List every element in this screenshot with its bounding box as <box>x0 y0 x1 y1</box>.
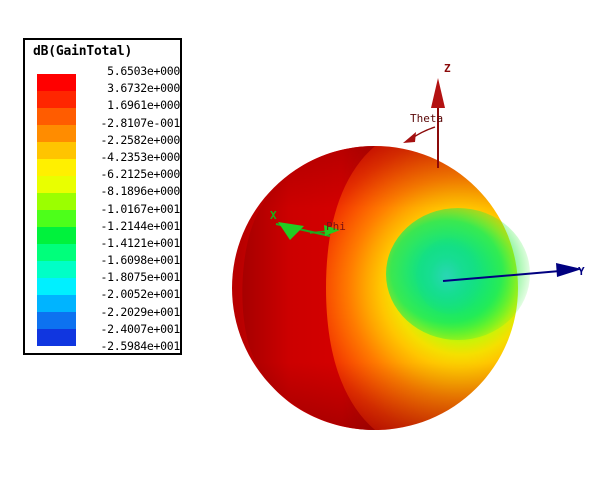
colorbar-tick: -2.0052e+001 <box>80 289 180 300</box>
colorbar-tick: -2.4007e+001 <box>80 324 180 335</box>
colorbar-band <box>37 261 76 278</box>
colorbar-band <box>37 193 76 210</box>
axis-theta-arrowhead <box>403 132 416 143</box>
axis-z-arrowhead <box>431 78 445 108</box>
colorbar-band <box>37 159 76 176</box>
colorbar-band <box>37 329 76 346</box>
colorbar-band <box>37 142 76 159</box>
colorbar-tick: -1.2144e+001 <box>80 221 180 232</box>
lobe-surface <box>232 146 530 430</box>
colorbar-tick: -4.2353e+000 <box>80 152 180 163</box>
colorbar-tick: -2.2582e+000 <box>80 135 180 146</box>
colorbar-band <box>37 74 76 91</box>
colorbar-tick: -1.4121e+001 <box>80 238 180 249</box>
colorbar-tick: -1.0167e+001 <box>80 204 180 215</box>
axis-theta-label: Theta <box>410 112 443 125</box>
colorbar-band <box>37 278 76 295</box>
colorbar-tick: -1.8075e+001 <box>80 272 180 283</box>
legend-panel: dB(GainTotal) 5.6503e+0003.6732e+0001.69… <box>23 38 182 355</box>
colorbar-band <box>37 227 76 244</box>
colorbar-tick: -2.8107e-001 <box>80 118 180 129</box>
lobe-null-core <box>416 238 484 314</box>
colorbar-tick-labels: 5.6503e+0003.6732e+0001.6961e+000-2.8107… <box>80 66 180 352</box>
colorbar-band <box>37 295 76 312</box>
axis-z-label: Z <box>444 62 451 75</box>
colorbar-band <box>37 91 76 108</box>
axis-y-label: Y <box>578 265 585 278</box>
colorbar-band <box>37 176 76 193</box>
colorbar-band <box>37 210 76 227</box>
legend-body: 5.6503e+0003.6732e+0001.6961e+000-2.8107… <box>36 66 176 349</box>
colorbar-tick: 1.6961e+000 <box>80 100 180 111</box>
colorbar-tick: -8.1896e+000 <box>80 186 180 197</box>
colorbar-tick: -6.2125e+000 <box>80 169 180 180</box>
colorbar-tick: -1.6098e+001 <box>80 255 180 266</box>
colorbar-tick: 5.6503e+000 <box>80 66 180 77</box>
legend-title: dB(GainTotal) <box>33 44 132 59</box>
axis-phi-label: Phi <box>326 220 346 233</box>
colorbar-band <box>37 125 76 142</box>
colorbar-tick: -2.5984e+001 <box>80 341 180 352</box>
axis-x-label: X <box>270 209 277 222</box>
colorbar-tick: -2.2029e+001 <box>80 307 180 318</box>
plot-canvas: dB(GainTotal) 5.6503e+0003.6732e+0001.69… <box>0 0 609 504</box>
colorbar-band <box>37 108 76 125</box>
colorbar-band <box>37 312 76 329</box>
colorbar-band <box>37 244 76 261</box>
colorbar <box>36 73 77 347</box>
colorbar-tick: 3.6732e+000 <box>80 83 180 94</box>
radiation-pattern-3d: Z Theta Y X <box>200 0 609 504</box>
